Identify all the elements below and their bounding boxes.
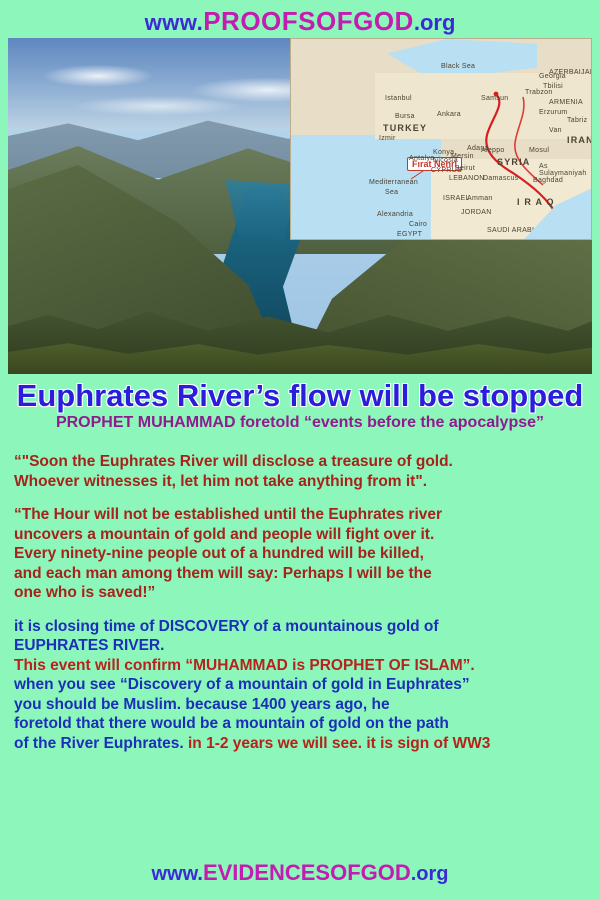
map-label-tabriz: Tabriz: [567, 117, 587, 124]
map-label-cairo: Cairo: [409, 221, 427, 228]
map-label-van: Van: [549, 127, 562, 134]
top-banner-prefix: www.: [145, 10, 204, 35]
quote2-line2: uncovers a mountain of gold and people w…: [14, 525, 592, 545]
map-label-iran: IRAN: [567, 135, 592, 145]
quote2-line1: “The Hour will not be established until …: [14, 505, 592, 525]
map-label-izmir: Izmir: [379, 135, 396, 142]
para5-line3: foretold that there would be a mountain …: [14, 714, 592, 734]
map-label-mediterranean: Mediterranean: [369, 179, 418, 186]
top-banner: www.PROOFSOFGOD.org: [0, 6, 600, 36]
map-label-antalya: Antalya: [409, 155, 434, 162]
map-label-syria: SYRIA: [497, 157, 531, 167]
top-banner-suffix: .org: [414, 10, 456, 35]
map-label-black-sea: Black Sea: [441, 63, 475, 70]
map-label-bursa: Bursa: [395, 113, 415, 120]
map-label-beirut: Beirut: [455, 165, 475, 172]
map-label-amman: Amman: [467, 195, 493, 202]
inset-map: Fırat Nehri TURKEY Ankara Istanbul Konya…: [290, 38, 592, 240]
quote1-line1: “"Soon the Euphrates River will disclose…: [14, 452, 592, 472]
bottom-banner-suffix: .org: [411, 863, 449, 885]
map-label-alexandria: Alexandria: [377, 211, 413, 218]
map-label-tbilisi: Tbilisi: [543, 83, 563, 90]
poster-root: www.PROOFSOFGOD.org Fırat Nehri TURKEY: [0, 0, 600, 900]
map-label-turkey: TURKEY: [383, 123, 427, 133]
bottom-banner-brand: EVIDENCESOFGOD: [203, 860, 411, 885]
map-label-israel: ISRAEL: [443, 195, 470, 202]
quote1-line2: Whoever witnesses it, let him not take a…: [14, 472, 592, 492]
map-label-erzurum: Erzurum: [539, 109, 568, 116]
para5-line4-red: in 1-2 years we will see. it is sign of …: [184, 735, 491, 752]
map-label-baghdad: Baghdad: [533, 177, 563, 184]
map-label-aleppo: Aleppo: [481, 147, 505, 154]
map-label-mersin: Mersin: [451, 153, 474, 160]
map-label-mosul: Mosul: [529, 147, 549, 154]
bottom-banner-prefix: www.: [151, 863, 202, 885]
para5-line2: you should be Muslim. because 1400 years…: [14, 695, 592, 715]
spacer-2: [14, 603, 592, 617]
para3-line2: EUPHRATES RIVER.: [14, 636, 592, 656]
para5-line4: of the River Euphrates. in 1-2 years we …: [14, 734, 592, 754]
map-label-lebanon: LEBANON: [449, 175, 485, 182]
map-label-sulaymaniyah: As Sulaymaniyah: [539, 163, 591, 177]
para5-line4-blue: of the River Euphrates.: [14, 735, 184, 752]
map-label-egypt: EGYPT: [397, 231, 422, 238]
headline: Euphrates River’s flow will be stopped: [0, 378, 600, 416]
bottom-banner: www.EVIDENCESOFGOD.org: [0, 860, 600, 886]
para4-confirm: This event will confirm “MUHAMMAD is PRO…: [14, 656, 592, 676]
map-label-trabzon: Trabzon: [525, 89, 553, 96]
spacer-1: [14, 491, 592, 505]
quote2-line4: and each man among them will say: Perhap…: [14, 564, 592, 584]
euphrates-photo: Fırat Nehri TURKEY Ankara Istanbul Konya…: [8, 38, 592, 374]
map-label-jordan: JORDAN: [461, 209, 492, 216]
map-label-iraq: I R A Q: [517, 197, 555, 207]
top-banner-brand: PROOFSOFGOD: [203, 6, 414, 36]
para3-line1: it is closing time of DISCOVERY of a mou…: [14, 617, 592, 637]
map-label-istanbul: Istanbul: [385, 95, 412, 102]
para5-line1: when you see “Discovery of a mountain of…: [14, 675, 592, 695]
quote2-line3: Every ninety-nine people out of a hundre…: [14, 544, 592, 564]
map-label-azerbaijan: AZERBAIJAN: [549, 69, 592, 76]
quote2-line5: one who is saved!”: [14, 583, 592, 603]
body-text: “"Soon the Euphrates River will disclose…: [14, 452, 592, 753]
map-label-damascus: Damascus: [483, 175, 518, 182]
map-label-samsun: Samsun: [481, 95, 508, 102]
map-label-sea: Sea: [385, 189, 398, 196]
map-label-ankara: Ankara: [437, 111, 461, 118]
map-label-armenia: ARMENIA: [549, 99, 583, 106]
subheadline: PROPHET MUHAMMAD foretold “events before…: [0, 414, 600, 438]
